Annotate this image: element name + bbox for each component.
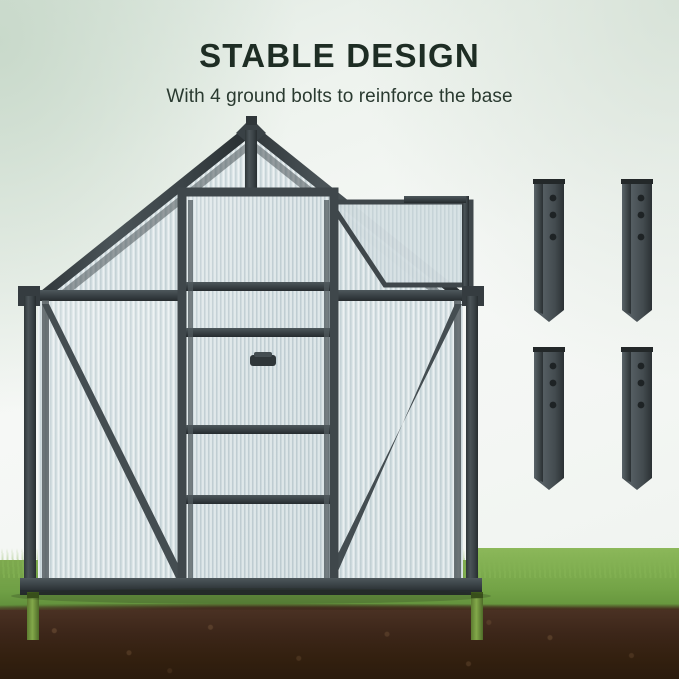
page-title: STABLE DESIGN — [0, 38, 679, 74]
door-stile-right — [324, 200, 329, 582]
door-muntin-2 — [186, 328, 330, 337]
vent-top-rail — [404, 196, 466, 203]
ground-bolt-4 — [621, 347, 653, 490]
ground-anchor-right — [471, 592, 483, 640]
door-muntin-1 — [186, 282, 330, 291]
ground-bolt-3 — [533, 347, 565, 490]
ground-bolts-group — [520, 170, 670, 510]
inner-post-left — [42, 300, 49, 585]
corner-post-left — [24, 296, 36, 592]
sliding-door — [182, 192, 334, 590]
ground-shadow — [11, 588, 491, 604]
inner-post-right — [454, 300, 461, 585]
corner-post-right — [466, 296, 478, 592]
door-stile-left — [188, 200, 193, 582]
ground-bolt-2 — [621, 179, 653, 322]
page-subtitle: With 4 ground bolts to reinforce the bas… — [0, 86, 679, 108]
product-scene: STABLE DESIGN With 4 ground bolts to rei… — [0, 0, 679, 679]
ground-bolt-1 — [533, 179, 565, 322]
headline-block: STABLE DESIGN With 4 ground bolts to rei… — [0, 38, 679, 108]
door-muntin-4 — [186, 495, 330, 504]
door-muntin-3 — [186, 425, 330, 434]
vent-support-arm — [462, 196, 469, 301]
